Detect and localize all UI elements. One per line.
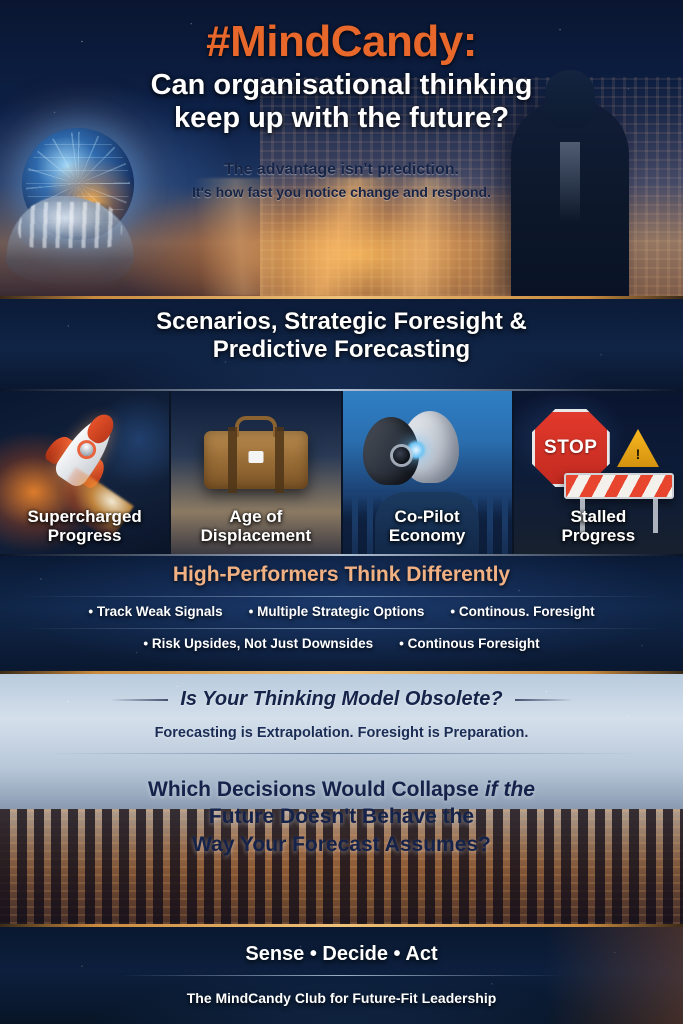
- high-performers-row-1: Track Weak Signals Multiple Strategic Op…: [0, 597, 683, 619]
- card-label-line-1: Stalled: [518, 508, 679, 526]
- question-bold-part: Which Decisions Would Collapse: [148, 778, 485, 801]
- obsolete-heading: Is Your Thinking Model Obsolete?: [180, 688, 502, 711]
- bullet-item: Continous Foresight: [399, 636, 539, 651]
- hero-subtitle-line-2: It's how fast you notice change and resp…: [0, 183, 683, 202]
- scenario-card-label: Age of Displacement: [171, 508, 340, 545]
- question-italic-part: if the: [485, 778, 535, 801]
- footer-section: Sense • Decide • Act The MindCandy Club …: [0, 927, 683, 1024]
- obsolete-question-line-1: Which Decisions Would Collapse if the: [0, 776, 683, 803]
- hero-subtitle: The advantage isn't prediction. It's how…: [0, 159, 683, 202]
- card-label-line-1: Supercharged: [4, 508, 165, 526]
- hero-hashtag: #MindCandy:: [0, 20, 683, 65]
- bullet-item: Risk Upsides, Not Just Downsides: [143, 636, 373, 651]
- road-barrier-icon: [564, 473, 674, 499]
- hero-headline-line-1: Can organisational thinking: [0, 69, 683, 102]
- scenario-card-label: Co-Pilot Economy: [343, 508, 512, 545]
- hero-text-block: #MindCandy: Can organisational thinking …: [0, 0, 683, 202]
- footer-credit: The MindCandy Club for Future-Fit Leader…: [0, 976, 683, 1006]
- card-label-line-1: Co-Pilot: [347, 508, 508, 526]
- scenario-card-age-of-displacement[interactable]: Age of Displacement: [171, 391, 342, 554]
- card-label-line-2: Progress: [4, 527, 165, 545]
- obsolete-question-line-2: Future Doesn't Behave the: [0, 803, 683, 830]
- obsolete-subheading: Forecasting is Extrapolation. Foresight …: [0, 725, 683, 741]
- high-performers-row-2: Risk Upsides, Not Just Downsides Contino…: [0, 629, 683, 651]
- scenario-cards-row: Supercharged Progress Age of Displacemen…: [0, 391, 683, 554]
- card-label-line-2: Progress: [518, 527, 679, 545]
- high-performers-heading: High-Performers Think Differently: [0, 556, 683, 587]
- scenario-card-label: Stalled Progress: [514, 508, 683, 545]
- warning-triangle-icon: [617, 429, 659, 467]
- scenarios-heading-section: Scenarios, Strategic Foresight & Predict…: [0, 299, 683, 389]
- scenario-card-stalled-progress[interactable]: STOP Stalled Progress: [514, 391, 683, 554]
- bullet-item: Continous. Foresight: [450, 604, 594, 619]
- robot-ear-decoration: [393, 447, 410, 464]
- obsolete-section: Is Your Thinking Model Obsolete? Forecas…: [0, 674, 683, 924]
- bullet-item: Multiple Strategic Options: [249, 604, 425, 619]
- scenarios-heading: Scenarios, Strategic Foresight & Predict…: [0, 299, 683, 365]
- scenarios-heading-line-1: Scenarios, Strategic Foresight &: [0, 308, 683, 336]
- bullet-item: Track Weak Signals: [88, 604, 222, 619]
- hero-headline-line-2: keep up with the future?: [0, 102, 683, 135]
- scenario-card-label: Supercharged Progress: [0, 508, 169, 545]
- hero-headline: Can organisational thinking keep up with…: [0, 69, 683, 135]
- obsolete-heading-wrap: Is Your Thinking Model Obsolete?: [0, 688, 683, 711]
- heading-rule-left: [110, 699, 168, 701]
- divider-rule: [42, 753, 641, 754]
- stop-sign-text: STOP: [544, 437, 597, 459]
- infographic-poster: #MindCandy: Can organisational thinking …: [0, 0, 683, 1024]
- briefcase-straps-decoration: [204, 431, 308, 489]
- scenarios-heading-line-2: Predictive Forecasting: [0, 336, 683, 364]
- briefcase-body-decoration: [204, 431, 308, 489]
- hero-section: #MindCandy: Can organisational thinking …: [0, 0, 683, 296]
- high-performers-section: High-Performers Think Differently Track …: [0, 556, 683, 671]
- scenario-card-supercharged-progress[interactable]: Supercharged Progress: [0, 391, 171, 554]
- obsolete-question: Which Decisions Would Collapse if the Fu…: [0, 776, 683, 858]
- footer-tagline: Sense • Decide • Act: [0, 927, 683, 966]
- scenario-card-co-pilot-economy[interactable]: Co-Pilot Economy: [343, 391, 514, 554]
- card-label-line-1: Age of: [175, 508, 336, 526]
- hero-subtitle-line-1: The advantage isn't prediction.: [0, 159, 683, 181]
- card-label-line-2: Displacement: [175, 527, 336, 545]
- heading-rule-right: [515, 699, 573, 701]
- card-label-line-2: Economy: [347, 527, 508, 545]
- obsolete-question-line-3: Way Your Forecast Assumes?: [0, 831, 683, 858]
